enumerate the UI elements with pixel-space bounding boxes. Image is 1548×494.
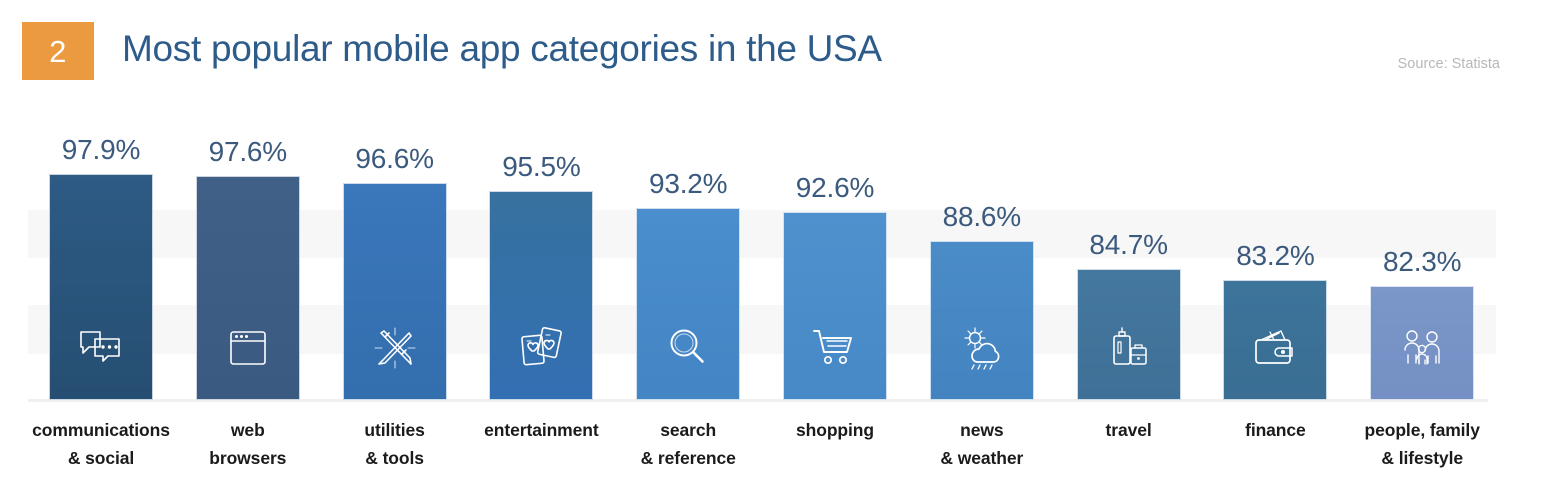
category-label: utilities& tools [317, 416, 473, 472]
bar-rect[interactable] [930, 241, 1034, 400]
bar-value-label: 83.2% [1223, 240, 1327, 272]
bar-value-label: 95.5% [489, 151, 593, 183]
category-label: people, family& lifestyle [1344, 416, 1500, 472]
bar-group[interactable]: 95.5% [489, 108, 593, 404]
x-axis-labels: communications& socialwebbrowsersutiliti… [0, 416, 1548, 486]
category-label-line1: web [231, 420, 265, 440]
category-label: travel [1051, 416, 1207, 444]
source-attribution: Source: Statista [1398, 56, 1500, 72]
bar-series: 97.9% 97.6% 96.6% 95.5% 93.2% 92.6% [0, 108, 1548, 404]
bar-group[interactable]: 97.6% [196, 108, 300, 404]
category-label-line1: search [660, 420, 716, 440]
category-label: finance [1197, 416, 1353, 444]
bar-value-label: 82.3% [1370, 246, 1474, 278]
bar-value-label: 93.2% [636, 168, 740, 200]
rank-badge: 2 [22, 22, 94, 80]
category-label-line1: finance [1245, 420, 1306, 440]
category-label-line2: & tools [317, 444, 473, 472]
category-label: search& reference [610, 416, 766, 472]
browser-window-icon [222, 322, 274, 374]
category-label-line1: people, family [1365, 420, 1480, 440]
category-label: communications& social [23, 416, 179, 472]
luggage-icon [1103, 322, 1155, 374]
category-label-line2: & lifestyle [1344, 444, 1500, 472]
bar-group[interactable]: 82.3% [1370, 108, 1474, 404]
pencil-ruler-icon [369, 322, 421, 374]
page-title: Most popular mobile app categories in th… [122, 28, 882, 70]
bar-value-label: 92.6% [783, 172, 887, 204]
family-people-icon [1396, 322, 1448, 374]
category-label-line2: & reference [610, 444, 766, 472]
sun-cloud-rain-icon [956, 322, 1008, 374]
category-label-line2: browsers [170, 444, 326, 472]
chart-header: 2 Most popular mobile app categories in … [0, 0, 1548, 96]
bar-value-label: 96.6% [343, 143, 447, 175]
category-label: shopping [757, 416, 913, 444]
speech-bubbles-icon [75, 322, 127, 374]
bar-group[interactable]: 96.6% [343, 108, 447, 404]
bar-value-label: 88.6% [930, 201, 1034, 233]
bar-group[interactable]: 84.7% [1077, 108, 1181, 404]
category-label: entertainment [463, 416, 619, 444]
category-label: news& weather [904, 416, 1060, 472]
bar-group[interactable]: 92.6% [783, 108, 887, 404]
playing-cards-icon [515, 322, 567, 374]
category-label: webbrowsers [170, 416, 326, 472]
plot-area: 97.9% 97.6% 96.6% 95.5% 93.2% 92.6% [0, 108, 1548, 404]
bar-value-label: 84.7% [1077, 229, 1181, 261]
bar-value-label: 97.9% [49, 134, 153, 166]
shopping-cart-icon [809, 322, 861, 374]
magnifier-icon [662, 322, 714, 374]
bar-group[interactable]: 97.9% [49, 108, 153, 404]
category-label-line1: travel [1106, 420, 1152, 440]
wallet-icon [1249, 322, 1301, 374]
category-label-line1: shopping [796, 420, 874, 440]
category-label-line2: & social [23, 444, 179, 472]
bar-group[interactable]: 88.6% [930, 108, 1034, 404]
category-label-line1: communications [32, 420, 170, 440]
bar-value-label: 97.6% [196, 136, 300, 168]
category-label-line1: news [960, 420, 1003, 440]
category-label-line2: & weather [904, 444, 1060, 472]
rank-badge-number: 2 [49, 36, 67, 67]
category-label-line1: utilities [364, 420, 424, 440]
bar-group[interactable]: 83.2% [1223, 108, 1327, 404]
bar-group[interactable]: 93.2% [636, 108, 740, 404]
category-label-line1: entertainment [484, 420, 598, 440]
